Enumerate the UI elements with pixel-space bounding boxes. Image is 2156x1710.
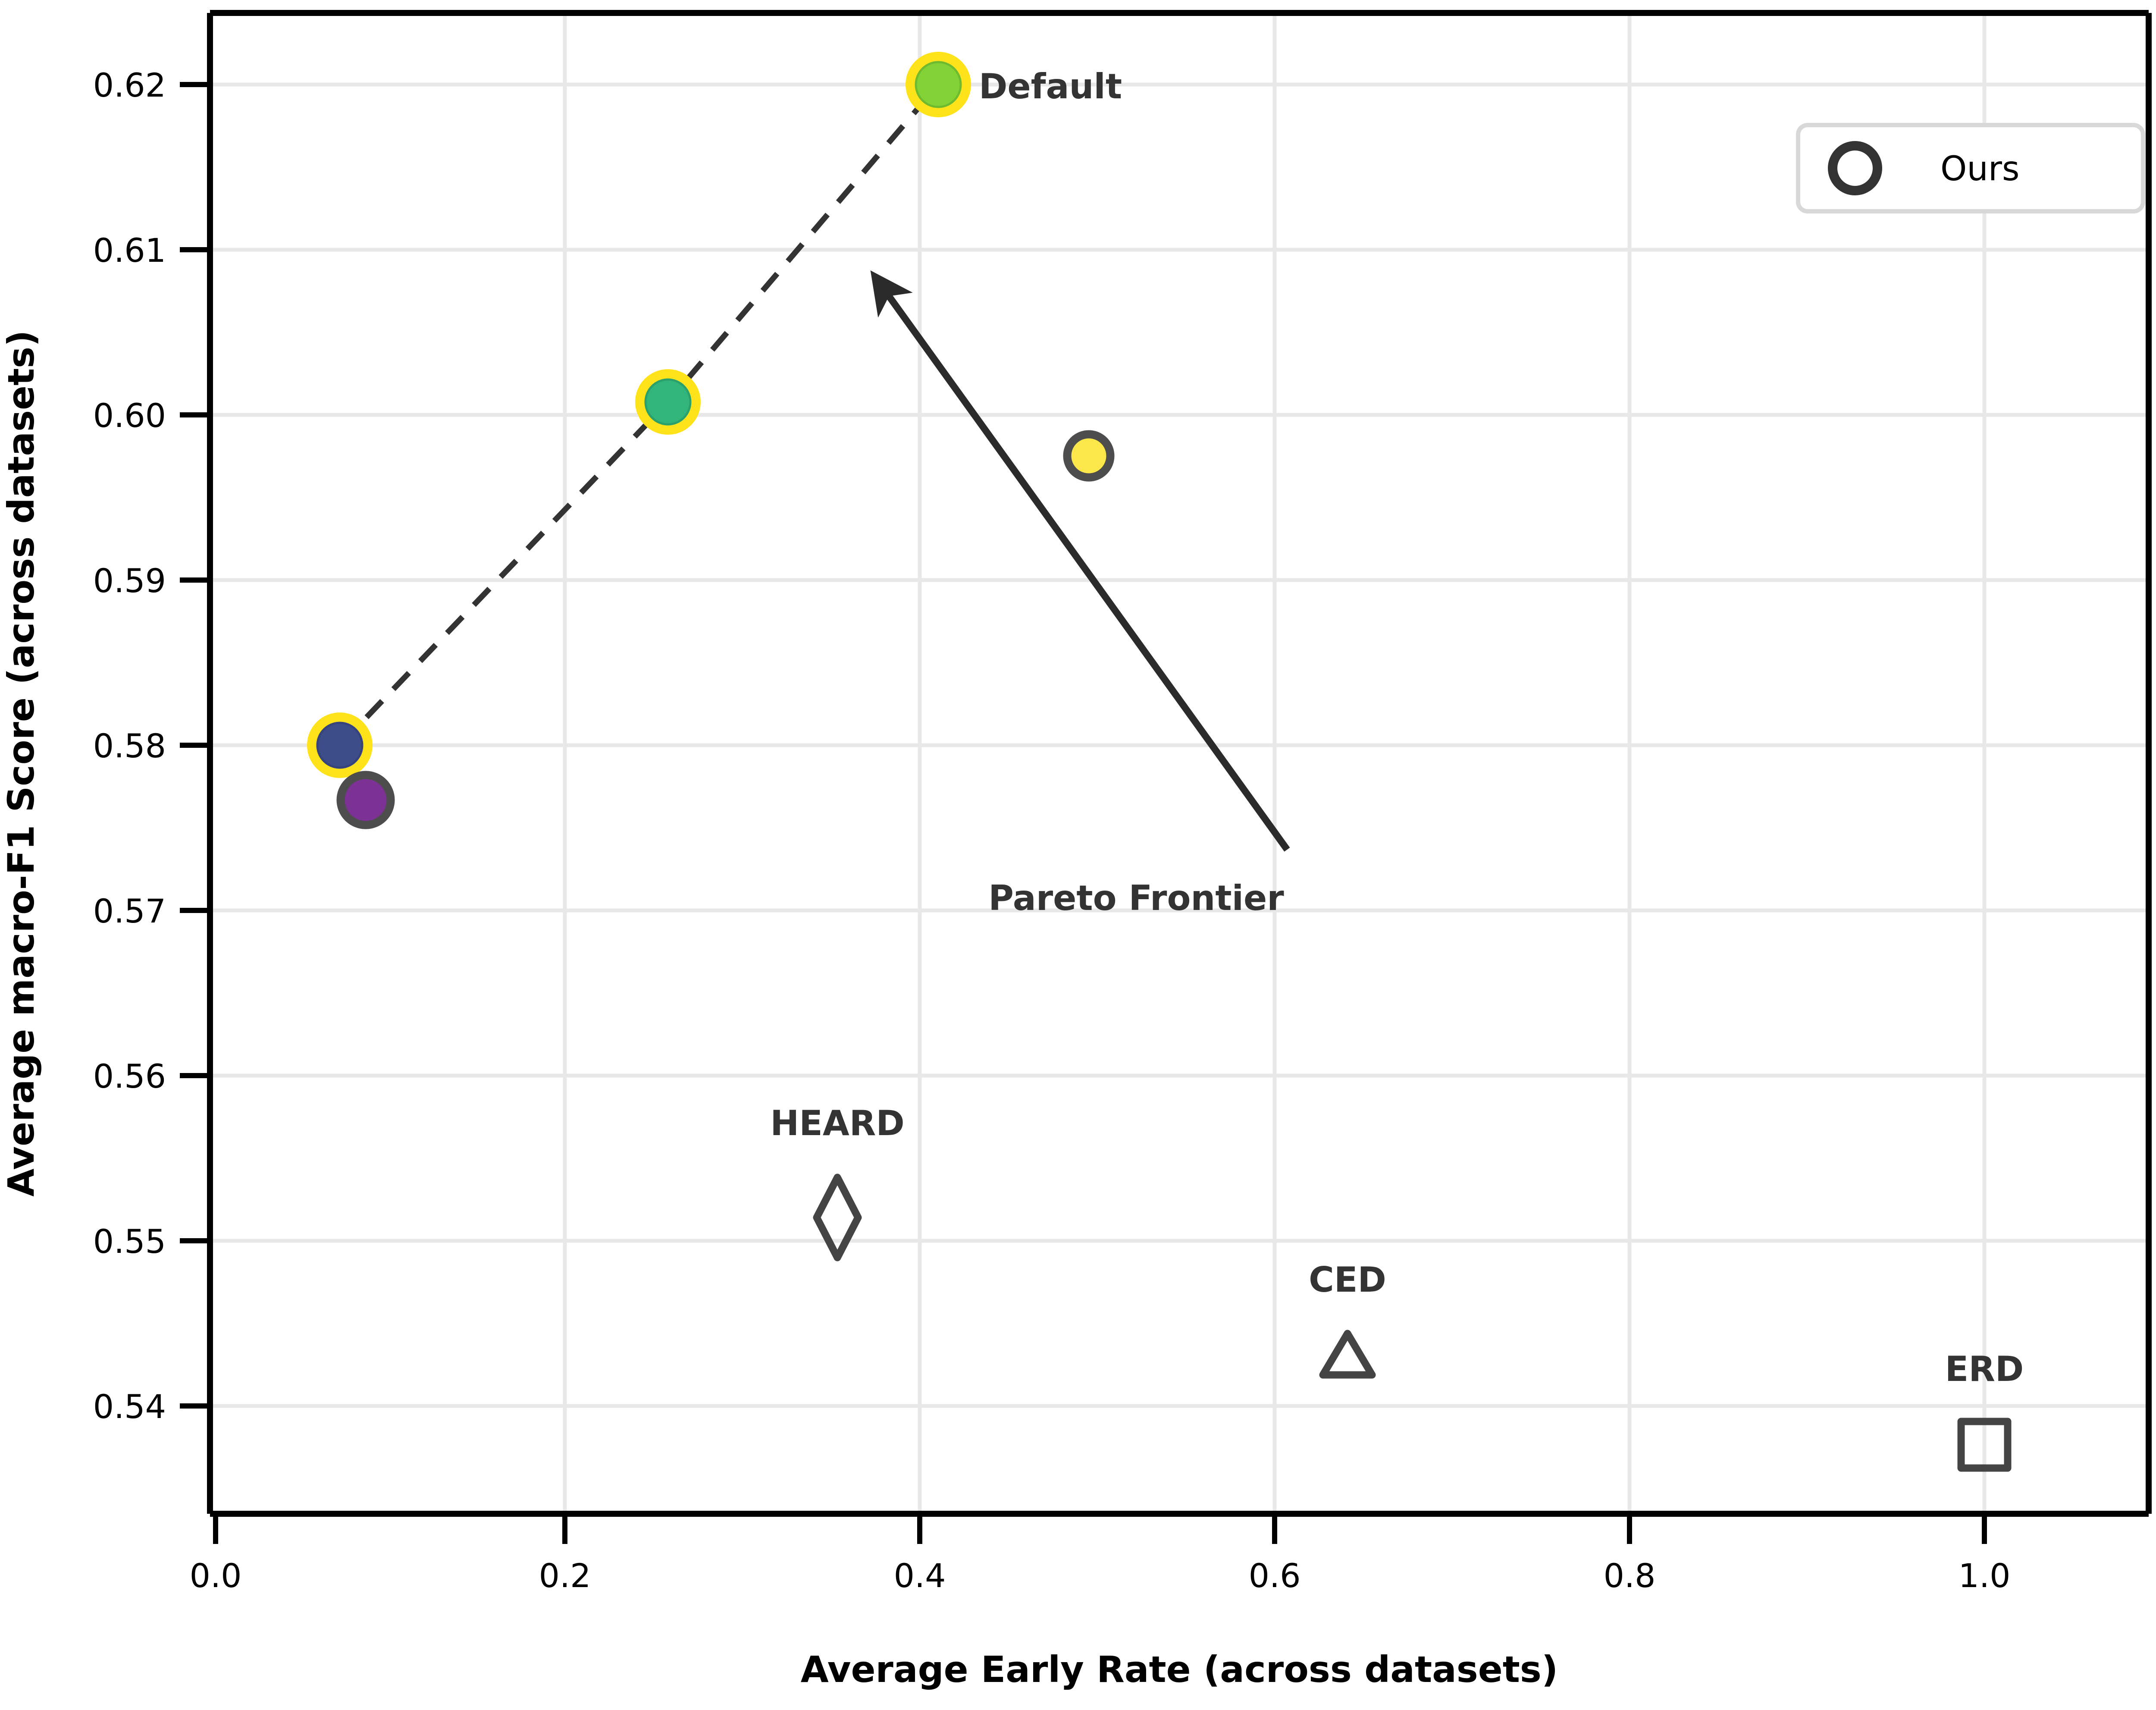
y-axis-label: Average macro-F1 Score (across datasets) [0,330,42,1196]
data-point-alpha-0-57[interactable] [635,369,701,435]
x-tick-label: 0.0 [190,1556,242,1595]
y-tick-label: 0.57 [93,892,166,930]
legend-label-ours: Ours [1940,150,2020,188]
y-tick-label: 0.59 [93,562,166,600]
data-point-alpha-0-32[interactable] [307,712,373,778]
data-point-alpha-0-80[interactable] [1067,434,1110,477]
y-tick-label: 0.60 [93,396,166,435]
x-tick-label: 1.0 [1959,1556,2011,1595]
figure-root: Default Pareto Frontier HEARD CED ERD Ou… [0,0,2156,1710]
y-tick-label: 0.61 [93,231,166,270]
axes-background [210,13,2149,1514]
x-tick-label: 0.2 [539,1556,591,1595]
data-point-default[interactable] [906,52,971,117]
scatter-plot-canvas: Default Pareto Frontier HEARD CED ERD Ou… [0,0,2156,1710]
y-tick-label: 0.62 [93,66,166,104]
annotation-heard: HEARD [770,1103,905,1143]
data-point-alpha-0-25[interactable] [341,775,391,825]
x-axis-label: Average Early Rate (across datasets) [801,1648,1558,1691]
y-tick-label: 0.58 [93,727,166,765]
y-tick-label: 0.54 [93,1387,166,1426]
x-tick-label: 0.4 [894,1556,946,1595]
annotation-default: Default [979,66,1122,107]
x-tick-label: 0.8 [1604,1556,1656,1595]
plot-area: Default Pareto Frontier HEARD CED ERD Ou… [0,13,2149,1691]
annotation-ced: CED [1309,1260,1386,1300]
y-tick-label: 0.55 [93,1222,166,1261]
legend[interactable]: Ours [1798,125,2143,211]
x-tick-label: 0.6 [1249,1556,1301,1595]
y-tick-label: 0.56 [93,1057,166,1095]
annotation-erd: ERD [1945,1349,2024,1389]
annotation-pareto-frontier: Pareto Frontier [988,878,1284,918]
